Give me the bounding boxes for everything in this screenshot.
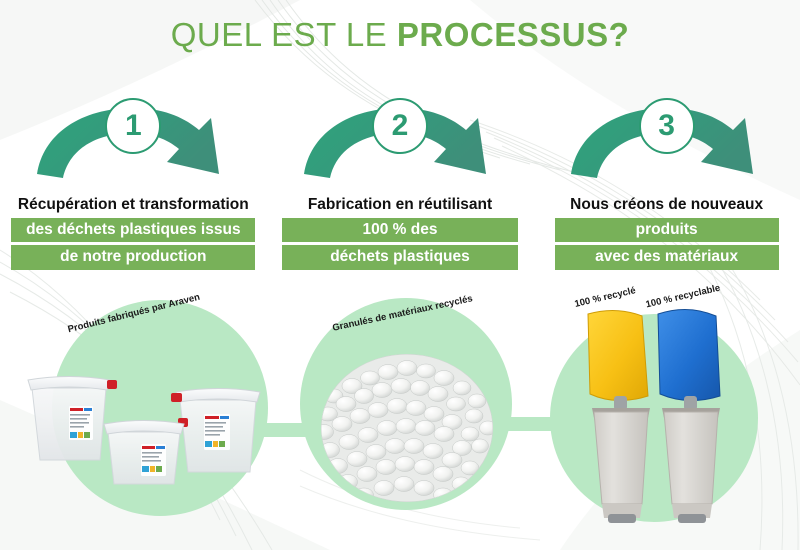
step-3-heading: Nous créons de nouveaux	[570, 196, 763, 214]
process-imagery: Produits fabriqués par Araven Granulés d…	[0, 286, 800, 550]
step-2-heading: Fabrication en réutilisant	[308, 196, 492, 214]
process-step-3: 3 Nous créons de nouveaux produits avec …	[533, 96, 800, 286]
step-2-highlight-lines: 100 % des déchets plastiques	[282, 218, 518, 270]
step-1-highlight-line-1: des déchets plastiques issus	[11, 218, 255, 242]
bin-blue	[658, 309, 720, 523]
step-3-highlight-line-2: avec des matériaux	[555, 245, 779, 269]
step-1-highlight-line-2: de notre production	[11, 245, 255, 269]
process-step-1: 1 Récupération et transformation des déc…	[0, 96, 267, 286]
step-3-arrow: 3	[567, 96, 767, 182]
plastic-food-containers-image	[14, 356, 274, 506]
step-2-arrow: 2	[300, 96, 500, 182]
bin-yellow	[588, 310, 650, 523]
step-3-highlight-line-1: produits	[555, 218, 779, 242]
step-1-number-badge: 1	[105, 98, 161, 154]
infographic-poster: QUEL EST LE PROCESSUS? 1 Récu	[0, 0, 800, 550]
step-2-highlight-line-1: 100 % des	[282, 218, 518, 242]
process-steps: 1 Récupération et transformation des déc…	[0, 96, 800, 286]
step-1-heading: Récupération et transformation	[18, 196, 249, 214]
step-1-highlight-lines: des déchets plastiques issus de notre pr…	[11, 218, 255, 270]
step-3-number-badge: 3	[639, 98, 695, 154]
process-step-2: 2 Fabrication en réutilisant 100 % des d…	[267, 96, 534, 286]
container-left	[28, 377, 117, 461]
step-2-number-badge: 2	[372, 98, 428, 154]
container-right	[171, 389, 260, 473]
pellet-heap	[315, 354, 497, 502]
page-title-bold: PROCESSUS?	[397, 16, 629, 53]
recycled-plastic-pellets-image	[312, 338, 502, 508]
step-3-highlight-lines: produits avec des matériaux	[555, 218, 779, 270]
container-center	[104, 421, 184, 485]
step-1-arrow: 1	[33, 96, 233, 182]
page-title: QUEL EST LE PROCESSUS?	[0, 16, 800, 54]
pedal-waste-bins-image	[570, 300, 740, 530]
page-title-regular: QUEL EST LE	[171, 16, 397, 53]
step-2-highlight-line-2: déchets plastiques	[282, 245, 518, 269]
